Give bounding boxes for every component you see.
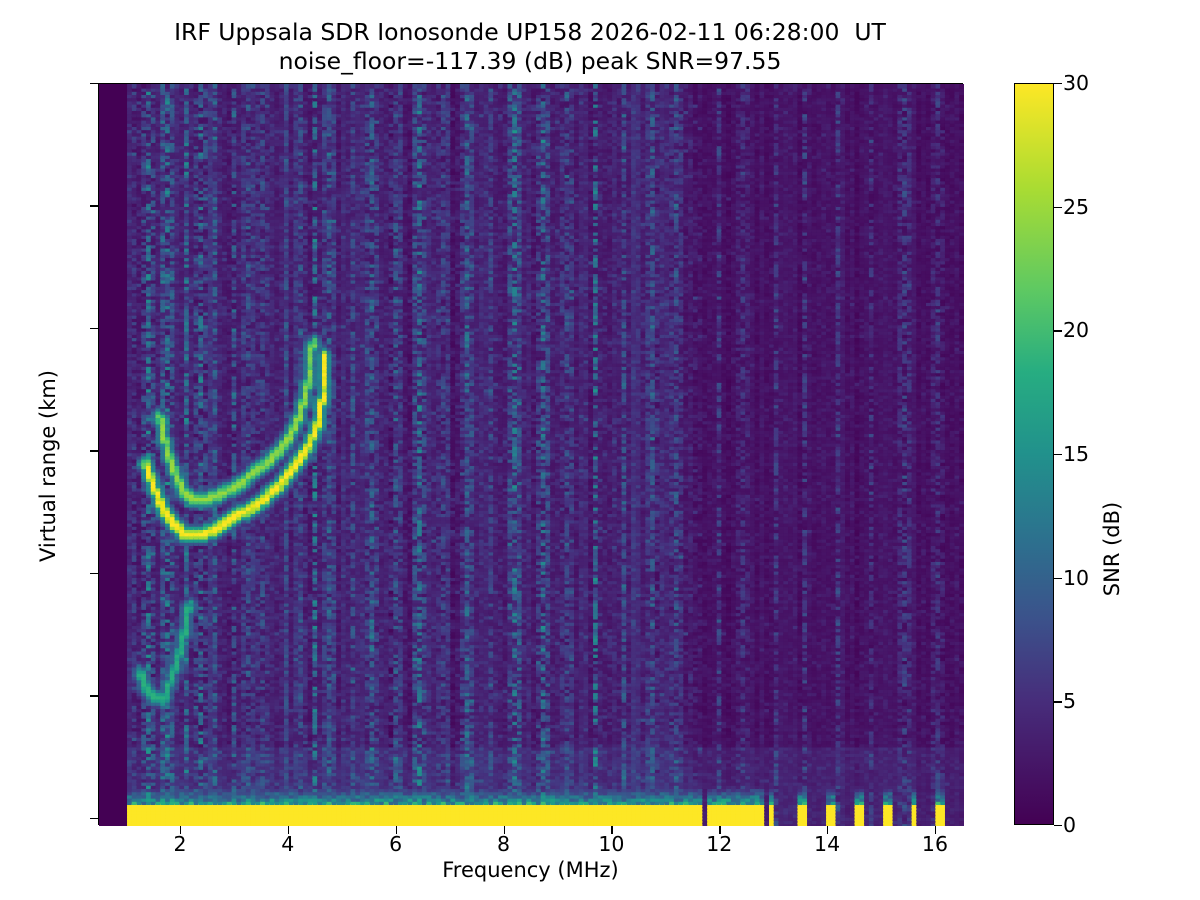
- x-tick-mark: [288, 826, 289, 834]
- x-tick-label: 4: [228, 833, 348, 855]
- y-axis-label: Virtual range (km): [36, 166, 60, 766]
- y-tick-mark: [90, 83, 98, 84]
- y-tick-mark: [90, 450, 98, 451]
- x-tick-label: 2: [120, 833, 240, 855]
- x-tick-label: 10: [551, 833, 671, 855]
- colorbar-tick-mark: [1054, 825, 1062, 826]
- y-tick-mark: [90, 573, 98, 574]
- y-tick-mark: [90, 205, 98, 206]
- x-tick-label: 8: [444, 833, 564, 855]
- x-tick-mark: [611, 826, 612, 834]
- y-tick-mark: [90, 695, 98, 696]
- colorbar-tick-label: 5: [1063, 691, 1163, 711]
- colorbar-tick-mark: [1054, 454, 1062, 455]
- colorbar-tick-label: 15: [1063, 444, 1163, 464]
- figure-title: IRF Uppsala SDR Ionosonde UP158 2026-02-…: [0, 18, 1060, 76]
- colorbar-tick-label: 30: [1063, 73, 1163, 93]
- title-line-2: noise_floor=-117.39 (dB) peak SNR=97.55: [0, 47, 1060, 76]
- x-tick-mark: [935, 826, 936, 834]
- x-tick-mark: [827, 826, 828, 834]
- x-tick-label: 12: [659, 833, 779, 855]
- colorbar-tick-label: 20: [1063, 320, 1163, 340]
- x-tick-label: 6: [336, 833, 456, 855]
- x-tick-mark: [504, 826, 505, 834]
- title-line-1: IRF Uppsala SDR Ionosonde UP158 2026-02-…: [0, 18, 1060, 47]
- colorbar-tick-label: 25: [1063, 197, 1163, 217]
- colorbar-tick-label: 0: [1063, 815, 1163, 835]
- colorbar-tick-mark: [1054, 578, 1062, 579]
- y-tick-mark: [90, 818, 98, 819]
- x-tick-mark: [396, 826, 397, 834]
- colorbar-tick-label: 10: [1063, 568, 1163, 588]
- ionogram-heatmap[interactable]: [99, 84, 964, 826]
- ionogram-figure: IRF Uppsala SDR Ionosonde UP158 2026-02-…: [0, 0, 1200, 900]
- plot-area[interactable]: [98, 83, 963, 825]
- colorbar-tick-mark: [1054, 701, 1062, 702]
- colorbar-tick-mark: [1054, 207, 1062, 208]
- colorbar-gradient: [1014, 83, 1054, 825]
- colorbar[interactable]: SNR (dB) 302520151050: [1014, 83, 1054, 825]
- x-tick-label: 14: [767, 833, 887, 855]
- y-tick-mark: [90, 328, 98, 329]
- x-axis-label: Frequency (MHz): [98, 858, 963, 882]
- x-tick-label: 16: [875, 833, 995, 855]
- x-tick-mark: [180, 826, 181, 834]
- x-tick-mark: [719, 826, 720, 834]
- colorbar-tick-mark: [1054, 330, 1062, 331]
- colorbar-tick-mark: [1054, 83, 1062, 84]
